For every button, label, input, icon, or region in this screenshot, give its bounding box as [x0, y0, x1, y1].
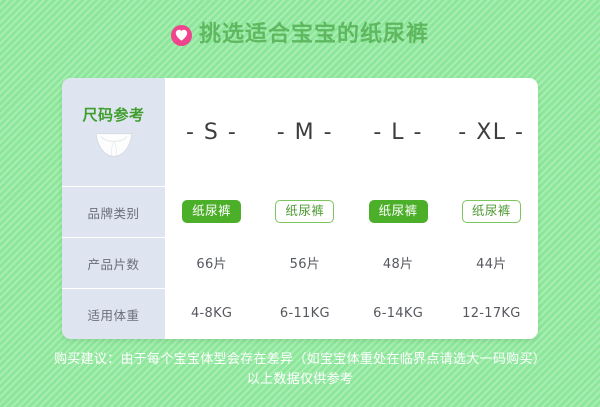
size-header-cell-s: - S -: [165, 120, 258, 145]
size-label-s: - S -: [186, 120, 237, 145]
table-cell: 纸尿裤: [258, 200, 351, 223]
size-header-row: - S - - M - - L - - XL -: [165, 78, 538, 186]
size-header-cell-l: - L -: [352, 120, 445, 145]
table-row-product-count: 66片 56片 48片 44片: [165, 237, 538, 288]
table-cell: 56片: [258, 253, 351, 272]
cell-value: 6-14KG: [373, 306, 423, 321]
footer-line-2: 以上数据仅供参考: [0, 370, 600, 390]
table-cell: 纸尿裤: [445, 200, 538, 223]
size-header-cell-m: - M -: [258, 120, 351, 145]
size-header-cell-xl: - XL -: [445, 120, 538, 145]
label-column-heading: 尺码参考: [62, 78, 165, 186]
size-label-m: - M -: [277, 120, 333, 145]
cell-value: 44片: [476, 253, 506, 272]
table-cell: 44片: [445, 253, 538, 272]
page-root: 挑选适合宝宝的纸尿裤 尺码参考 品牌类别 产品片数 适用体重: [0, 0, 600, 407]
cell-value: 6-11KG: [280, 306, 330, 321]
row-label-brand-category: 品牌类别: [62, 186, 165, 237]
table-row-suitable-weight: 4-8KG 6-11KG 6-14KG 12-17KG: [165, 288, 538, 339]
table-cell: 6-14KG: [352, 306, 445, 321]
cell-value: 12-17KG: [462, 306, 520, 321]
size-label-xl: - XL -: [458, 120, 524, 145]
label-column: 尺码参考 品牌类别 产品片数 适用体重: [62, 78, 165, 339]
diaper-icon: [92, 130, 136, 160]
row-label-suitable-weight: 适用体重: [62, 288, 165, 339]
footer-line-1: 购买建议：由于每个宝宝体型会存在差异（如宝宝体重处在临界点请选大一码购买）: [0, 350, 600, 370]
table-cell: 纸尿裤: [165, 200, 258, 223]
status-badge: 纸尿裤: [369, 200, 428, 223]
row-label-product-count: 产品片数: [62, 237, 165, 288]
cell-value: 4-8KG: [191, 306, 232, 321]
heart-icon: [171, 25, 192, 46]
table-cell: 6-11KG: [258, 306, 351, 321]
table-cell: 4-8KG: [165, 306, 258, 321]
cell-value: 56片: [290, 253, 320, 272]
page-title: 挑选适合宝宝的纸尿裤: [199, 24, 429, 46]
status-badge: 纸尿裤: [462, 200, 521, 223]
table-cell: 48片: [352, 253, 445, 272]
page-header: 挑选适合宝宝的纸尿裤: [0, 17, 600, 53]
table-cell: 12-17KG: [445, 306, 538, 321]
size-reference-card: 尺码参考 品牌类别 产品片数 适用体重 - S -: [62, 78, 538, 339]
table-row-brand-category: 纸尿裤 纸尿裤 纸尿裤 纸尿裤: [165, 186, 538, 237]
status-badge: 纸尿裤: [275, 200, 334, 223]
size-label-l: - L -: [373, 120, 423, 145]
footer-note: 购买建议：由于每个宝宝体型会存在差异（如宝宝体重处在临界点请选大一码购买） 以上…: [0, 350, 600, 390]
cell-value: 48片: [383, 253, 413, 272]
table-cell: 纸尿裤: [352, 200, 445, 223]
data-column: - S - - M - - L - - XL - 纸尿裤 纸尿裤: [165, 78, 538, 339]
cell-value: 66片: [196, 253, 226, 272]
size-reference-title: 尺码参考: [82, 108, 144, 123]
status-badge: 纸尿裤: [182, 200, 241, 223]
table-cell: 66片: [165, 253, 258, 272]
